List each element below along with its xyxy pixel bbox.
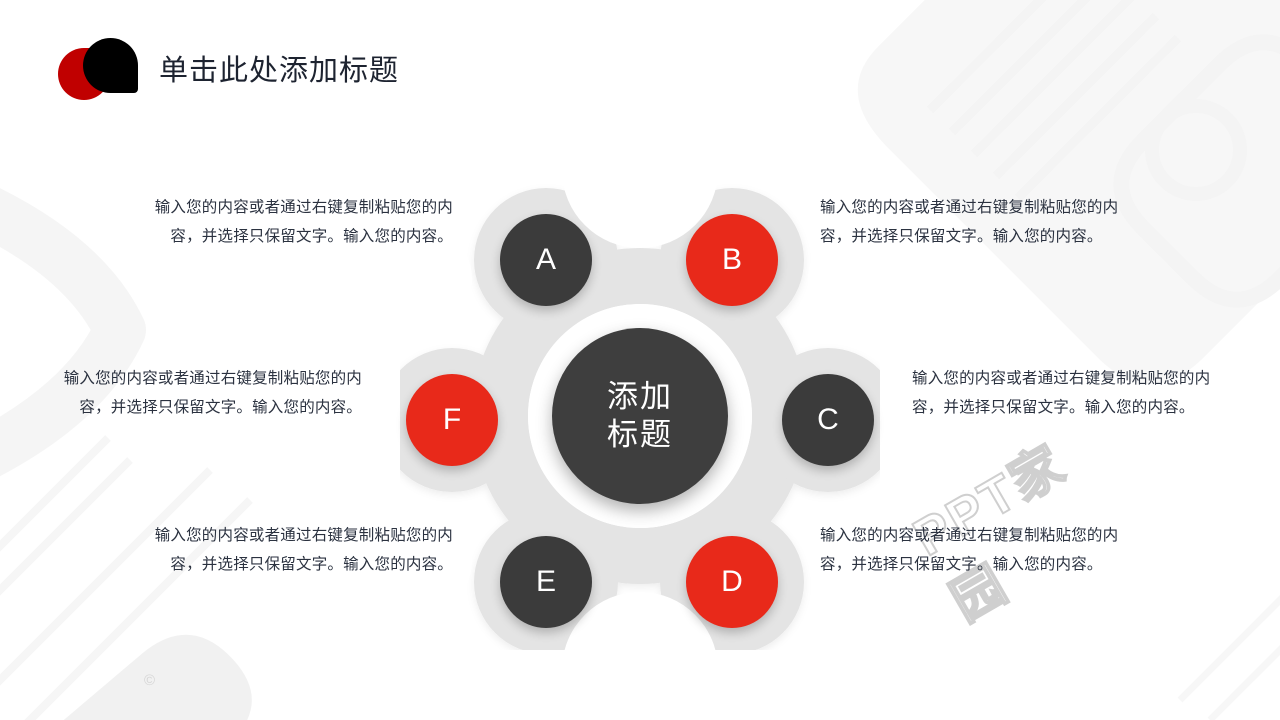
node-c[interactable]: C	[782, 374, 874, 466]
description-c: 输入您的内容或者通过右键复制粘贴您的内容，并选择只保留文字。输入您的内容。	[912, 364, 1212, 422]
deco-bottomleft-bar	[0, 635, 252, 720]
node-b-label: B	[722, 245, 742, 275]
center-title-line2: 标题	[607, 416, 673, 454]
center-node[interactable]: 添加 标题	[552, 328, 728, 504]
node-f-label: F	[443, 405, 461, 435]
node-b[interactable]: B	[686, 214, 778, 306]
petal-logo-icon	[55, 32, 141, 104]
copyright-mark: ©	[144, 672, 155, 689]
description-b: 输入您的内容或者通过右键复制粘贴您的内容，并选择只保留文字。输入您的内容。	[820, 193, 1120, 251]
node-f[interactable]: F	[406, 374, 498, 466]
description-a: 输入您的内容或者通过右键复制粘贴您的内容，并选择只保留文字。输入您的内容。	[153, 193, 453, 251]
hexagon-node-diagram: 添加 标题 PPT家园 A B C D E F	[400, 180, 880, 650]
page-title: 单击此处添加标题	[159, 47, 399, 89]
deco-bottomleft-stripes	[0, 438, 250, 720]
node-e[interactable]: E	[500, 536, 592, 628]
description-e: 输入您的内容或者通过右键复制粘贴您的内容，并选择只保留文字。输入您的内容。	[153, 521, 453, 579]
node-a-label: A	[536, 245, 556, 275]
node-d[interactable]: D	[686, 536, 778, 628]
watermark-text: PPT家园	[907, 412, 1153, 617]
description-d: 输入您的内容或者通过右键复制粘贴您的内容，并选择只保留文字。输入您的内容。	[820, 521, 1120, 579]
node-d-label: D	[721, 567, 743, 597]
deco-topright-capsule	[1099, 20, 1280, 321]
description-f: 输入您的内容或者通过右键复制粘贴您的内容，并选择只保留文字。输入您的内容。	[62, 364, 362, 422]
slide-canvas: 单击此处添加标题	[0, 0, 1280, 720]
node-e-label: E	[536, 567, 556, 597]
deco-left-chevron	[0, 190, 120, 480]
slide-header: 单击此处添加标题	[55, 32, 399, 104]
deco-bottomright-stripe	[1180, 590, 1280, 720]
node-a[interactable]: A	[500, 214, 592, 306]
petal-black-shape	[83, 38, 138, 93]
node-c-label: C	[817, 405, 839, 435]
deco-topright-stripes	[930, 0, 1178, 198]
center-title-line1: 添加	[607, 378, 673, 416]
